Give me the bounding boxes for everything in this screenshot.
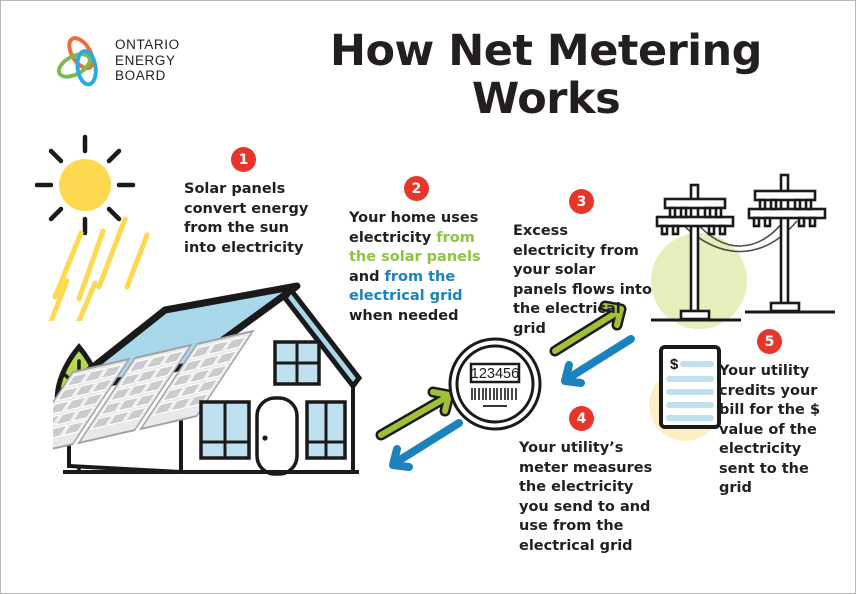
step-utility-credits-bill: 5 Your utility credits your bill for the…: [719, 329, 839, 499]
step-text-1: Solar panels convert energy from the sun…: [184, 180, 319, 258]
page-title: How Net Metering Works: [251, 27, 841, 123]
step-excess-flows-to-grid: 3 Excess electricity from your solar pan…: [513, 189, 653, 339]
step-text-5: Your utility credits your bill for the $…: [719, 362, 839, 499]
step-solar-panels: 1 Solar panels convert energy from the s…: [184, 147, 319, 258]
arrow-to-grid-green: [381, 392, 449, 435]
house-lower-right-window: [307, 402, 345, 458]
oeb-logo-text: ONTARIO ENERGY BOARD: [115, 37, 180, 84]
step-home-uses-electricity: 2 Your home uses electricity from the so…: [349, 176, 497, 326]
step2-part2: and: [349, 269, 385, 285]
infographic-canvas: ONTARIO ENERGY BOARD How Net Metering Wo…: [0, 0, 856, 594]
ontario-energy-board-logo: ONTARIO ENERGY BOARD: [53, 31, 233, 93]
step-badge-3: 3: [569, 189, 594, 214]
utility-power-poles: [637, 163, 847, 343]
house-upper-window: [275, 342, 319, 384]
arrow-from-grid-blue: [565, 339, 631, 383]
oeb-logo-mark: [53, 33, 109, 89]
step-meter-measures: 4 Your utility’s meter measures the elec…: [519, 406, 659, 556]
logo-line-board: BOARD: [115, 68, 180, 84]
step-badge-4: 4: [569, 406, 594, 431]
step-badge-2: 2: [404, 176, 429, 201]
logo-line-ontario: ONTARIO: [115, 37, 180, 53]
step-text-3: Excess electricity from your solar panel…: [513, 222, 653, 339]
power-pole-right: [749, 175, 825, 311]
house-door: [257, 398, 297, 474]
logo-line-energy: ENERGY: [115, 53, 180, 69]
house-lower-left-window: [201, 402, 249, 458]
bill-currency-symbol: $: [670, 356, 679, 373]
step2-part3: when needed: [349, 308, 459, 324]
step-text-2: Your home uses electricity from the sola…: [349, 209, 497, 326]
meter-reading: 123456: [471, 366, 519, 382]
house-with-solar-panels: [53, 276, 373, 496]
step-badge-5: 5: [757, 329, 782, 354]
step-badge-1: 1: [231, 147, 256, 172]
step-text-4: Your utility’s meter measures the electr…: [519, 439, 659, 556]
